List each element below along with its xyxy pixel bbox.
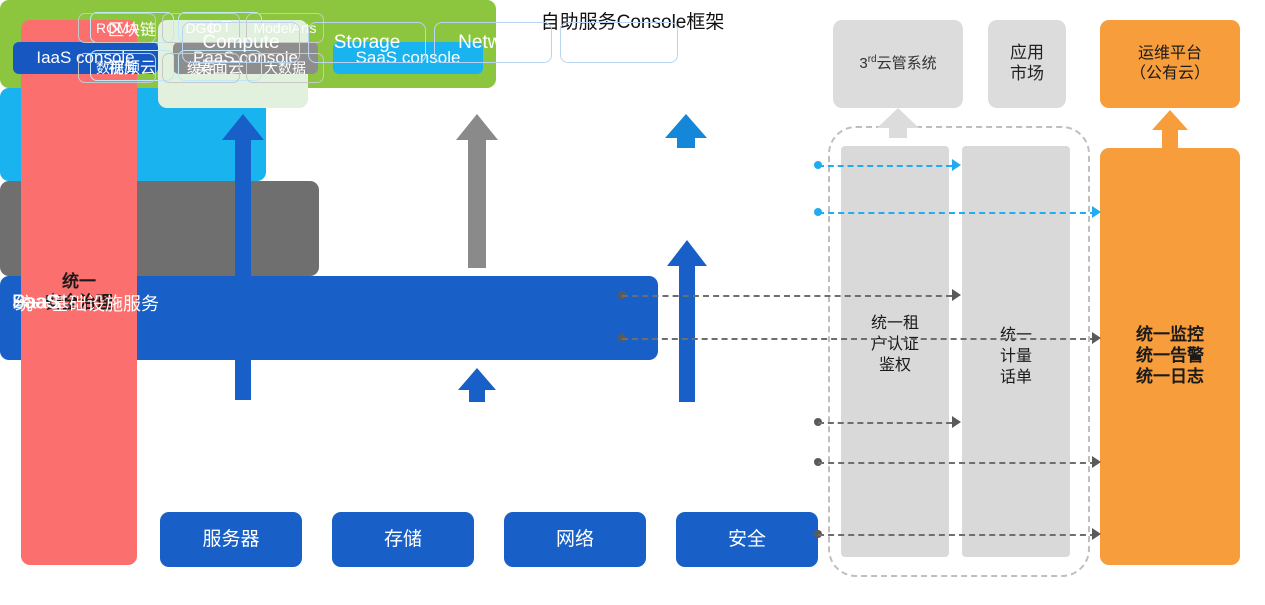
hardware-label-security: 安全 [728,528,766,551]
arrow-paas-to-console [456,114,498,268]
arrowhead-saas-to-ops [1092,206,1101,218]
ops-main-line1: 统一监控 [1136,325,1204,346]
dashed-line-hardware-to-ops [818,534,1096,536]
third-party-cloud-label: 3rd云管系统 [859,54,936,73]
app-market-line2: 市场 [1010,64,1044,85]
arrowhead-paas-to-auth [952,289,961,301]
unified-monitoring-pillar: 统一监控 统一告警 统一日志 [1100,148,1240,565]
third-party-sup: rd [868,54,877,65]
arrowhead-hardware-to-ops [1092,528,1101,540]
arrowhead-infra-to-ops [1092,456,1101,468]
hardware-box-server[interactable]: 服务器 [160,512,302,567]
third-party-cloud-management-box: 3rd云管系统 [833,20,963,108]
ops-platform-public-cloud-box: 运维平台 （公有云） [1100,20,1240,108]
meter-line1: 统一 [962,326,1070,347]
application-market-box: 应用 市场 [988,20,1066,108]
arrow-capsule-to-third-party-cloud [877,108,919,138]
third-party-prefix: 3 [859,55,867,72]
architecture-diagram: 统一 安全治理 API网关 自助服务Console框架 IaaS console… [0,0,1265,605]
dashed-line-infra-to-ops [818,462,1096,464]
app-market-line1: 应用 [1010,43,1044,64]
arrowhead-paas-to-ops [1092,332,1101,344]
arrowhead-infra-to-auth [952,416,961,428]
paas-item-roma[interactable]: ROMA [78,13,156,43]
hardware-label-server: 服务器 [202,528,259,551]
arrow-saas-to-console [665,114,707,148]
hardware-box-network[interactable]: 网络 [504,512,646,567]
meter-line3: 话单 [962,368,1070,389]
dashed-line-paas-to-auth [622,295,952,297]
ops-top-line2: （公有云） [1130,64,1210,84]
arrow-infra-to-paas [458,368,496,402]
dashed-line-saas-to-auth [818,165,952,167]
dashed-line-paas-to-ops [622,338,1096,340]
arrow-infra-to-saas [667,240,707,402]
unified-tenant-auth-column: 统一租 户认证 鉴权 [841,146,949,557]
auth-line3: 鉴权 [841,356,949,377]
infra-item-storage[interactable]: Storage [308,22,426,63]
hardware-box-security[interactable]: 安全 [676,512,818,567]
hardware-label-storage: 存储 [384,528,422,551]
infra-item-cce[interactable]: CCE [560,22,678,63]
arrow-infra-to-api-gateway [222,114,264,400]
infra-item-network[interactable]: Network [434,22,552,63]
auth-line1: 统一租 [841,314,949,335]
dashed-line-saas-to-ops [818,212,1096,214]
ops-top-line1: 运维平台 [1130,44,1210,64]
paas-item-database[interactable]: 数据库 [78,53,156,83]
meter-line2: 计量 [962,347,1070,368]
dashed-line-infra-to-auth [818,422,952,424]
arrowhead-saas-to-auth [952,159,961,171]
hardware-label-network: 网络 [556,528,594,551]
third-party-suffix: 云管系统 [877,55,937,72]
infra-item-compute[interactable]: Compute [182,22,300,63]
hardware-box-storage[interactable]: 存储 [332,512,474,567]
ops-main-line2: 统一告警 [1136,346,1204,367]
infrastructure-label: 统一基础设施服务 [15,290,159,316]
ops-main-line3: 统一日志 [1136,367,1204,388]
unified-metering-billing-column: 统一 计量 话单 [962,146,1070,557]
arrow-ops-main-to-ops-top [1152,110,1188,148]
